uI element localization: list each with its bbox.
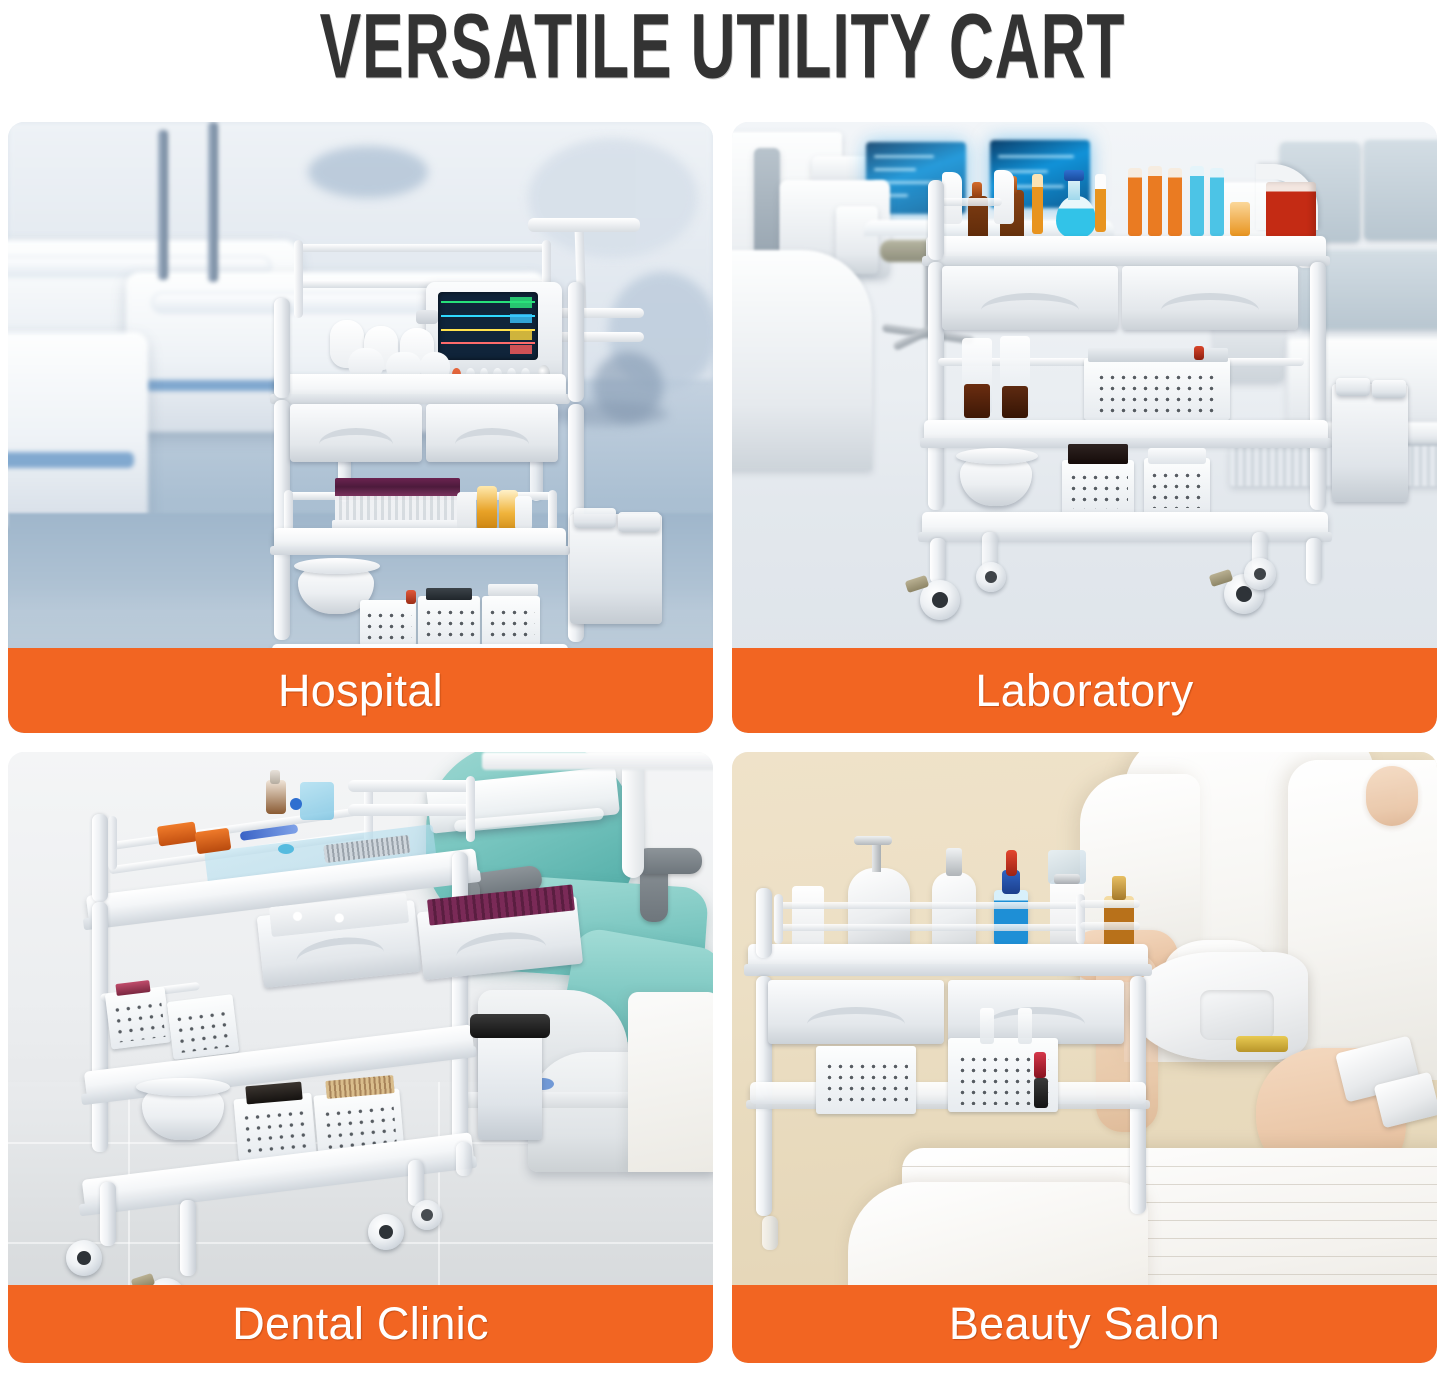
panel-laboratory[interactable]: Laboratory <box>732 122 1437 733</box>
locking-caster-3 <box>976 562 1006 592</box>
beauty-scene-photo <box>732 752 1437 1363</box>
page-title: VERSATILE UTILITY CART <box>145 0 1301 95</box>
side-waste-bin <box>478 1020 542 1140</box>
test-tube-rack <box>1128 162 1260 238</box>
red-liquid-beaker <box>1266 182 1316 240</box>
reagent-bottles <box>962 332 1082 420</box>
medicine-bottles <box>453 482 533 532</box>
white-item-basket <box>1144 458 1210 514</box>
panel-caption-hospital: Hospital <box>8 648 713 733</box>
laboratory-scene-photo <box>732 122 1437 733</box>
panel-beauty-salon[interactable]: Beauty Salon <box>732 752 1437 1363</box>
panel-caption-dental-clinic: Dental Clinic <box>8 1285 713 1363</box>
drawer-left[interactable] <box>290 404 422 462</box>
panel-hospital[interactable]: Hospital <box>8 122 713 733</box>
vial-basket <box>1084 358 1230 420</box>
locking-caster-4 <box>1244 558 1276 590</box>
dark-vial-basket <box>1062 460 1134 514</box>
hospital-scene-photo <box>8 122 713 733</box>
panel-dental-clinic[interactable]: Dental Clinic <box>8 752 713 1363</box>
drawer-right[interactable] <box>426 404 558 462</box>
drawer-left[interactable] <box>942 266 1118 330</box>
storage-basket-1 <box>360 600 416 646</box>
bur-basket-1 <box>105 987 171 1050</box>
locking-caster-4 <box>412 1200 442 1230</box>
drawer-left[interactable] <box>768 980 944 1044</box>
storage-basket-2 <box>418 596 480 646</box>
bur-basket-2 <box>167 994 240 1060</box>
drawer-right[interactable] <box>948 980 1124 1044</box>
storage-basket-1 <box>816 1046 916 1114</box>
blue-serum-vial <box>994 890 1028 948</box>
locking-caster-3 <box>368 1214 404 1250</box>
drawer-right[interactable] <box>1122 266 1298 330</box>
side-waste-bin <box>1332 384 1408 502</box>
locking-caster-1 <box>920 580 960 620</box>
panel-caption-laboratory: Laboratory <box>732 648 1437 733</box>
dental-scene-photo <box>8 752 713 1363</box>
panel-grid: Hospital <box>8 122 1437 1363</box>
locking-caster-1 <box>66 1240 102 1276</box>
storage-basket-3 <box>482 596 540 646</box>
panel-caption-beauty-salon: Beauty Salon <box>732 1285 1437 1363</box>
